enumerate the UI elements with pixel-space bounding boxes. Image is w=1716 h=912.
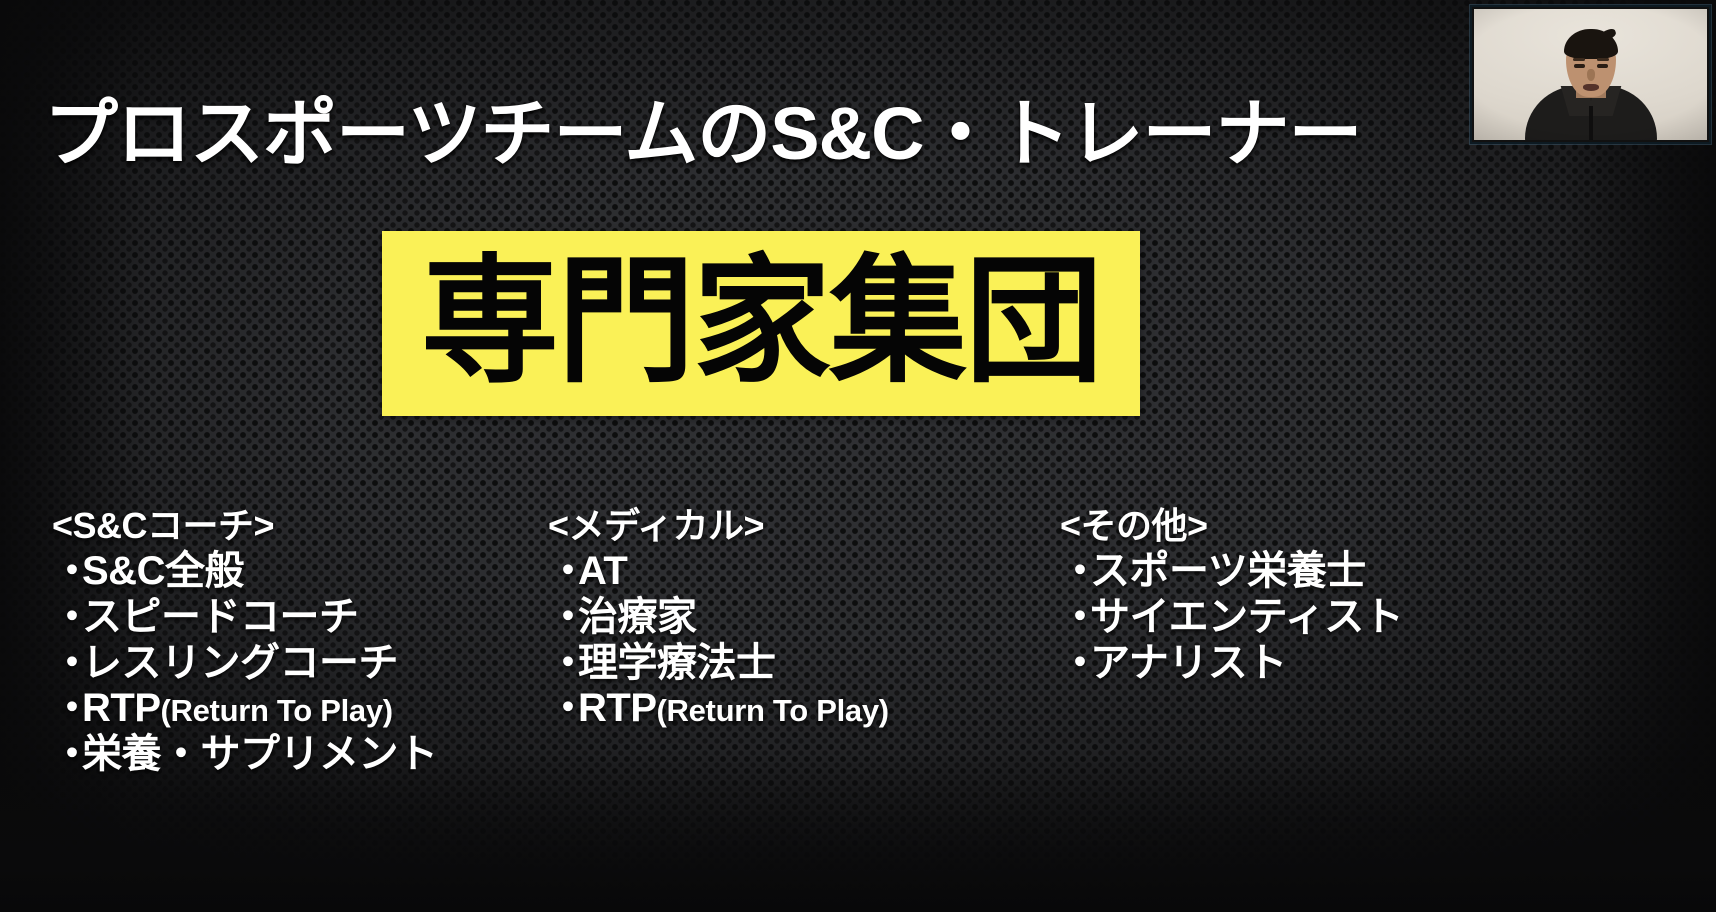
bullet-dot-icon: ・ bbox=[548, 549, 578, 595]
list-item: ・ レスリングコーチ bbox=[52, 641, 552, 687]
column-bullet-list: ・ S&C全般 ・ スピードコーチ ・ レスリングコーチ ・ RTP bbox=[52, 549, 552, 777]
speaker-nose bbox=[1587, 69, 1595, 81]
list-item: ・ 理学療法士 bbox=[548, 641, 1048, 687]
speaker-shirt-placket bbox=[1589, 106, 1593, 140]
column-bullet-list: ・ AT ・ 治療家 ・ 理学療法士 ・ RTP (Return bbox=[548, 549, 1048, 731]
list-item-sublabel: (Return To Play) bbox=[657, 693, 889, 728]
bullet-dot-icon: ・ bbox=[52, 732, 82, 778]
speaker-eye-left bbox=[1574, 64, 1585, 68]
list-item-label: 治療家 bbox=[578, 595, 697, 641]
list-item: ・ S&C全般 bbox=[52, 549, 552, 595]
list-item: ・ RTP (Return To Play) bbox=[52, 686, 552, 732]
speaker-hair bbox=[1564, 29, 1618, 59]
list-item-label: RTP bbox=[82, 686, 161, 732]
bullet-dot-icon: ・ bbox=[52, 686, 82, 732]
column-heading: <S&Cコーチ> bbox=[52, 505, 552, 547]
speaker-eyebrow-right bbox=[1597, 58, 1609, 61]
speaker-eye-right bbox=[1597, 64, 1608, 68]
bullet-dot-icon: ・ bbox=[548, 641, 578, 687]
list-item-label: AT bbox=[578, 549, 627, 595]
list-item-sublabel: (Return To Play) bbox=[161, 693, 393, 728]
presentation-slide: プロスポーツチームのS&C・トレーナー 専門家集団 <S&Cコーチ> ・ S&C… bbox=[0, 0, 1716, 912]
speaker-video-thumbnail[interactable] bbox=[1470, 5, 1711, 144]
highlight-banner: 専門家集団 bbox=[382, 231, 1140, 416]
list-item-label: サイエンティスト bbox=[1090, 595, 1403, 641]
highlight-banner-text: 専門家集団 bbox=[421, 253, 1101, 391]
category-column-medical: <メディカル> ・ AT ・ 治療家 ・ 理学療法士 bbox=[548, 505, 1048, 732]
speaker-mouth bbox=[1583, 84, 1599, 91]
list-item: ・ 栄養・サプリメント bbox=[52, 732, 552, 778]
list-item-label: アナリスト bbox=[1090, 641, 1287, 687]
bullet-dot-icon: ・ bbox=[52, 595, 82, 641]
list-item: ・ サイエンティスト bbox=[1060, 595, 1620, 641]
list-item-label: スポーツ栄養士 bbox=[1090, 549, 1366, 595]
slide-headline: プロスポーツチームのS&C・トレーナー bbox=[44, 97, 1524, 171]
speaker-eyebrow-left bbox=[1573, 58, 1585, 61]
bullet-dot-icon: ・ bbox=[52, 641, 82, 687]
list-item-label: RTP bbox=[578, 686, 657, 732]
list-item-label: スピードコーチ bbox=[82, 595, 359, 641]
bullet-dot-icon: ・ bbox=[1060, 549, 1090, 595]
category-column-other: <その他> ・ スポーツ栄養士 ・ サイエンティスト ・ アナリスト bbox=[1060, 505, 1620, 686]
list-item: ・ 治療家 bbox=[548, 595, 1048, 641]
list-item-label: 栄養・サプリメント bbox=[82, 732, 438, 778]
category-column-sc-coach: <S&Cコーチ> ・ S&C全般 ・ スピードコーチ ・ レスリングコーチ bbox=[52, 505, 552, 777]
bullet-dot-icon: ・ bbox=[52, 549, 82, 595]
list-item-label: S&C全般 bbox=[82, 549, 244, 595]
list-item: ・ アナリスト bbox=[1060, 641, 1620, 687]
list-item-label: 理学療法士 bbox=[578, 641, 776, 687]
bullet-dot-icon: ・ bbox=[1060, 595, 1090, 641]
column-heading: <その他> bbox=[1060, 505, 1620, 547]
list-item: ・ AT bbox=[548, 549, 1048, 595]
list-item: ・ RTP (Return To Play) bbox=[548, 686, 1048, 732]
category-columns: <S&Cコーチ> ・ S&C全般 ・ スピードコーチ ・ レスリングコーチ bbox=[0, 505, 1716, 905]
bullet-dot-icon: ・ bbox=[548, 686, 578, 732]
speaker-video-frame bbox=[1474, 9, 1707, 140]
column-bullet-list: ・ スポーツ栄養士 ・ サイエンティスト ・ アナリスト bbox=[1060, 549, 1620, 686]
list-item: ・ スピードコーチ bbox=[52, 595, 552, 641]
list-item: ・ スポーツ栄養士 bbox=[1060, 549, 1620, 595]
column-heading: <メディカル> bbox=[548, 505, 1048, 547]
bullet-dot-icon: ・ bbox=[1060, 641, 1090, 687]
list-item-label: レスリングコーチ bbox=[82, 641, 398, 687]
bullet-dot-icon: ・ bbox=[548, 595, 578, 641]
